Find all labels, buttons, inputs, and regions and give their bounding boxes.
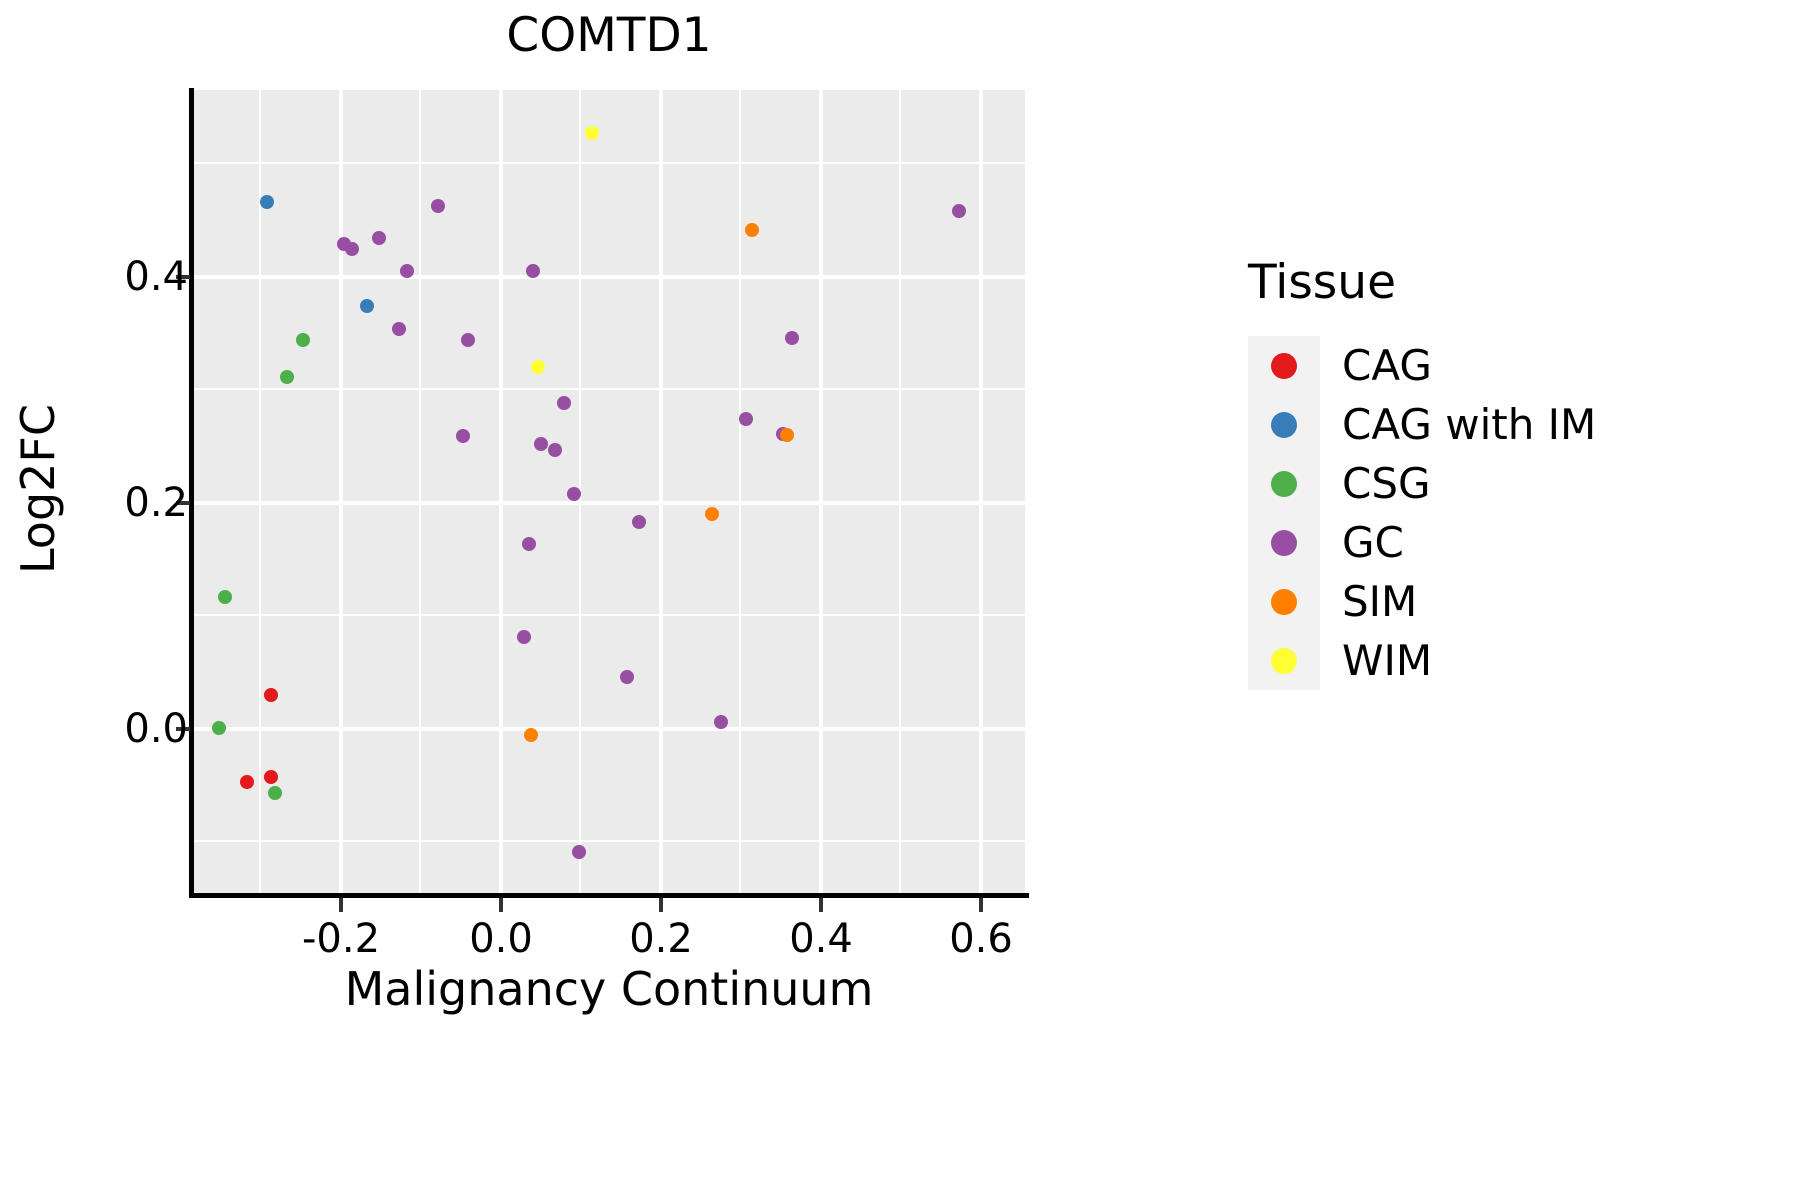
x-tick — [819, 898, 823, 912]
legend-item-cag-with-im[interactable]: CAG with IM — [1248, 395, 1768, 454]
data-point — [745, 223, 759, 237]
legend-point-icon — [1271, 412, 1297, 438]
horizontal-gridline — [193, 727, 1025, 731]
vertical-gridline — [659, 90, 663, 893]
x-tick-label: 0.6 — [949, 916, 1013, 962]
legend-item-csg[interactable]: CSG — [1248, 454, 1768, 513]
legend-point-icon — [1271, 353, 1297, 379]
data-point — [534, 437, 548, 451]
vertical-gridline — [339, 90, 343, 893]
data-point — [212, 721, 226, 735]
data-point — [218, 590, 232, 604]
data-point — [431, 199, 445, 213]
vertical-gridline — [419, 90, 421, 893]
x-axis-line — [189, 893, 1029, 898]
y-tick-label: 0.0 — [124, 706, 188, 752]
legend-swatch-cell — [1248, 454, 1320, 513]
data-point — [524, 728, 538, 742]
x-tick-label: -0.2 — [302, 916, 380, 962]
x-tick — [979, 898, 983, 912]
x-tick — [659, 898, 663, 912]
data-point — [952, 204, 966, 218]
legend-point-icon — [1271, 589, 1297, 615]
legend-item-label: CAG — [1342, 345, 1432, 387]
legend-item-gc[interactable]: GC — [1248, 513, 1768, 572]
vertical-gridline — [739, 90, 741, 893]
data-point — [372, 231, 386, 245]
horizontal-gridline — [193, 840, 1025, 842]
horizontal-gridline — [193, 275, 1025, 279]
y-tick-label: 0.4 — [124, 254, 188, 300]
data-point — [531, 360, 545, 374]
data-point — [264, 688, 278, 702]
data-point — [240, 775, 254, 789]
legend-item-cag[interactable]: CAG — [1248, 336, 1768, 395]
horizontal-gridline — [193, 501, 1025, 505]
data-point — [526, 264, 540, 278]
legend-item-label: CAG with IM — [1342, 404, 1596, 446]
x-tick-label: 0.4 — [789, 916, 853, 962]
x-tick-label: 0.2 — [629, 916, 693, 962]
x-tick — [499, 898, 503, 912]
data-point — [572, 845, 586, 859]
data-point — [360, 299, 374, 313]
data-point — [522, 537, 536, 551]
data-point — [567, 487, 581, 501]
data-point — [296, 333, 310, 347]
x-tick-label: 0.0 — [469, 916, 533, 962]
legend-swatch-cell — [1248, 572, 1320, 631]
legend-entries: CAGCAG with IMCSGGCSIMWIM — [1248, 336, 1768, 690]
data-point — [780, 428, 794, 442]
vertical-gridline — [499, 90, 503, 893]
data-point — [705, 507, 719, 521]
data-point — [585, 126, 599, 140]
legend-point-icon — [1271, 530, 1297, 556]
y-axis-line — [189, 88, 194, 895]
data-point — [785, 331, 799, 345]
horizontal-gridline — [193, 162, 1025, 164]
data-point — [548, 443, 562, 457]
y-axis-label: Log2FC — [11, 269, 65, 709]
legend-item-label: GC — [1342, 522, 1404, 564]
vertical-gridline — [819, 90, 823, 893]
chart-title: COMTD1 — [193, 8, 1025, 63]
plot-panel — [193, 90, 1025, 893]
horizontal-gridline — [193, 614, 1025, 616]
legend-item-label: WIM — [1342, 640, 1432, 682]
data-point — [392, 322, 406, 336]
data-point — [400, 264, 414, 278]
vertical-gridline — [259, 90, 261, 893]
data-point — [345, 242, 359, 256]
legend-swatch-cell — [1248, 513, 1320, 572]
data-point — [632, 515, 646, 529]
data-point — [739, 412, 753, 426]
chart-root: COMTD1 Malignancy Continuum Log2FC Tissu… — [0, 0, 1800, 1200]
legend-point-icon — [1271, 648, 1297, 674]
data-point — [714, 715, 728, 729]
legend-item-sim[interactable]: SIM — [1248, 572, 1768, 631]
legend-swatch-cell — [1248, 631, 1320, 690]
horizontal-gridline — [193, 388, 1025, 390]
data-point — [557, 396, 571, 410]
data-point — [461, 333, 475, 347]
y-tick-label: 0.2 — [124, 480, 188, 526]
data-point — [260, 195, 274, 209]
x-tick — [339, 898, 343, 912]
legend-swatch-cell — [1248, 336, 1320, 395]
data-point — [517, 630, 531, 644]
legend-item-wim[interactable]: WIM — [1248, 631, 1768, 690]
data-point — [620, 670, 634, 684]
data-point — [264, 770, 278, 784]
legend-item-label: SIM — [1342, 581, 1417, 623]
vertical-gridline — [899, 90, 901, 893]
x-axis-label: Malignancy Continuum — [193, 962, 1025, 1016]
legend-item-label: CSG — [1342, 463, 1431, 505]
data-point — [280, 370, 294, 384]
legend-swatch-cell — [1248, 395, 1320, 454]
legend-point-icon — [1271, 471, 1297, 497]
legend-title: Tissue — [1248, 255, 1768, 310]
legend: Tissue CAGCAG with IMCSGGCSIMWIM — [1248, 255, 1768, 690]
data-point — [456, 429, 470, 443]
data-point — [268, 786, 282, 800]
vertical-gridline — [979, 90, 983, 893]
